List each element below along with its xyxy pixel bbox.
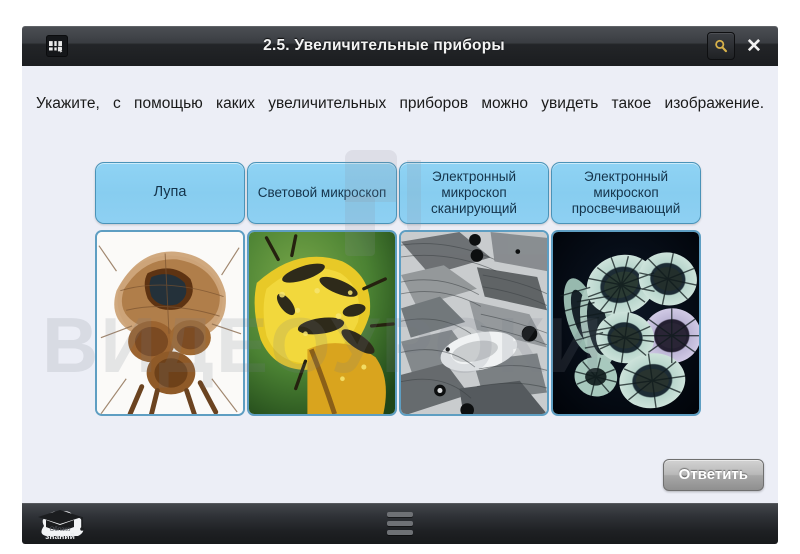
title-bar-right: ✕ [676,32,778,60]
hamburger-bar-2 [387,521,413,526]
title-bar-left [22,35,92,57]
title-bar: 2.5. Увеличительные приборы ✕ [22,26,778,66]
option-image-bee-with-pollen-photo[interactable] [247,230,397,416]
answer-button[interactable]: Ответить [663,459,764,491]
close-glyph: ✕ [746,37,762,56]
close-icon[interactable]: ✕ [742,33,766,59]
option-image-grayscale-fibre-micrograph[interactable] [399,230,549,416]
option-button-svetovoy-mikroskop[interactable]: Световой микроскоп [247,162,397,224]
question-text: Укажите, с помощью каких увеличительных … [36,92,764,139]
hamburger-icon[interactable] [387,512,413,535]
window-title: 2.5. Увеличительные приборы [92,37,676,55]
magnifier-icon[interactable] [707,32,735,60]
hamburger-bar-3 [387,530,413,535]
lesson-window: 2.5. Увеличительные приборы ✕ Укажите, с… [0,0,800,554]
hamburger-bar-1 [387,512,413,517]
option-image-insect-head-magnifier-photo[interactable] [95,230,245,416]
grid-icon[interactable] [46,35,68,57]
option-button-elektronnyy-mikroskop-skaniruyushchiy[interactable]: Электронный микроскоп сканирующий [399,162,549,224]
option-column-1: Лупа [95,162,245,416]
options-row: Лупа [95,162,705,416]
option-column-2: Световой микроскоп [247,162,397,416]
option-button-elektronnyy-mikroskop-prosvechivayushchiy[interactable]: Электронный микроскоп просвечивающий [551,162,701,224]
option-column-3: Электронный микроскоп сканирующий [399,162,549,416]
option-column-4: Электронный микроскоп просвечивающий [551,162,701,416]
content-panel: Укажите, с помощью каких увеличительных … [22,66,778,503]
bottom-bar: Облако знаний [22,503,778,544]
option-image-coccolithophore-sem-photo[interactable] [551,230,701,416]
option-button-lupa[interactable]: Лупа [95,162,245,224]
logo-oblako-znaniy[interactable]: Облако знаний [30,506,92,542]
svg-text:знаний: знаний [45,531,75,541]
